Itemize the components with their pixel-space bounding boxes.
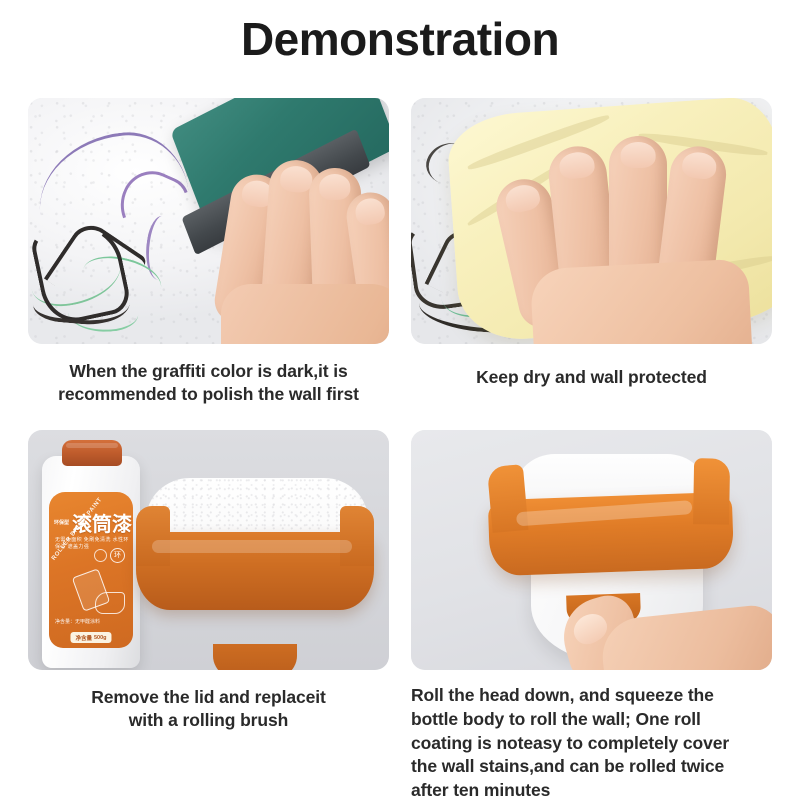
fingernail [319, 174, 351, 201]
palm [530, 258, 755, 344]
weight-value: 500g [94, 635, 107, 641]
bottle-cap [62, 440, 122, 466]
fingernail [558, 151, 595, 180]
steps-grid: QETAOCK S CI When the graffiti color is … [28, 98, 772, 800]
step-card-polish: QETAOCK S CI When the graffiti color is … [28, 98, 389, 430]
roller-frame-neck [213, 644, 297, 670]
label-secondary-badge-icon [94, 549, 107, 562]
bottle-label: 环保型 滚筒漆 无需大面积 免刷免清洗 水性环保漆 遮盖力强 ROLLER BR… [49, 492, 133, 648]
caption-line: Keep dry and wall protected [411, 366, 772, 389]
hand [559, 570, 772, 670]
caption-line: recommended to polish the wall first [28, 383, 389, 406]
step-caption-replace-lid: Remove the lid and replaceit with a roll… [28, 686, 389, 733]
caption-line: When the graffiti color is dark,it is [28, 360, 389, 383]
step-caption-wipe: Keep dry and wall protected [411, 366, 772, 389]
roller-frame-highlight [152, 540, 352, 553]
roller-frame [136, 532, 374, 610]
label-brand-mark: 环保型 [54, 520, 69, 526]
caption-line: after ten minutes [411, 779, 772, 803]
caption-line: bottle body to roll the wall; One roll [411, 708, 772, 732]
label-footer-text: 净含量：无甲醛涂料 [55, 619, 100, 626]
palm [221, 284, 389, 344]
roller-brush-head [489, 454, 733, 584]
fingernail [354, 197, 386, 227]
label-weight-badge: 净含量 500g [70, 632, 111, 643]
paint-bottle: 环保型 滚筒漆 无需大面积 免刷免清洗 水性环保漆 遮盖力强 ROLLER BR… [42, 456, 140, 668]
caption-line: coating is noteasy to completely cover [411, 732, 772, 756]
step-caption-polish: When the graffiti color is dark,it is re… [28, 360, 389, 407]
step-card-replace-lid: 环保型 滚筒漆 无需大面积 免刷免清洗 水性环保漆 遮盖力强 ROLLER BR… [28, 430, 389, 800]
demonstration-infographic: Demonstration QETAOCK S CI [0, 0, 800, 800]
fingernail [503, 182, 542, 215]
step-card-wipe: Keep dry and wall protected [411, 98, 772, 430]
label-eco-badge-icon: 环 [110, 548, 125, 563]
photo-wiping-wall-with-yellow-cloth [411, 98, 772, 344]
roller-brush-head [136, 478, 374, 648]
roller-frame-arm-right [693, 458, 730, 525]
step-caption-roll-wall: Roll the head down, and squeeze the bott… [411, 684, 772, 803]
fingernail [681, 151, 718, 181]
roller-frame-highlight [516, 500, 693, 526]
label-illustration: ROLLER BRUSH PAINT 环 [55, 548, 129, 620]
roller-frame [488, 492, 735, 576]
fingernail [621, 142, 656, 168]
page-title: Demonstration [0, 14, 800, 65]
label-hand-drawing [95, 592, 125, 614]
photo-bottle-and-roller-brush: 环保型 滚筒漆 无需大面积 免刷免清洗 水性环保漆 遮盖力强 ROLLER BR… [28, 430, 389, 670]
hand [507, 124, 757, 344]
photo-sanding-block-on-graffiti-wall: QETAOCK S CI [28, 98, 389, 344]
caption-line: Remove the lid and replaceit [28, 686, 389, 709]
roller-frame-arm-left [136, 506, 170, 566]
weight-label: 净含量 [75, 634, 92, 642]
photo-rolling-bottle-on-wall [411, 430, 772, 670]
hand [217, 158, 389, 344]
caption-line: Roll the head down, and squeeze the [411, 684, 772, 708]
caption-line: the wall stains,and can be rolled twice [411, 755, 772, 779]
caption-line: with a rolling brush [28, 709, 389, 732]
step-card-roll-wall: Roll the head down, and squeeze the bott… [411, 430, 772, 800]
roller-frame-arm-right [340, 506, 374, 566]
